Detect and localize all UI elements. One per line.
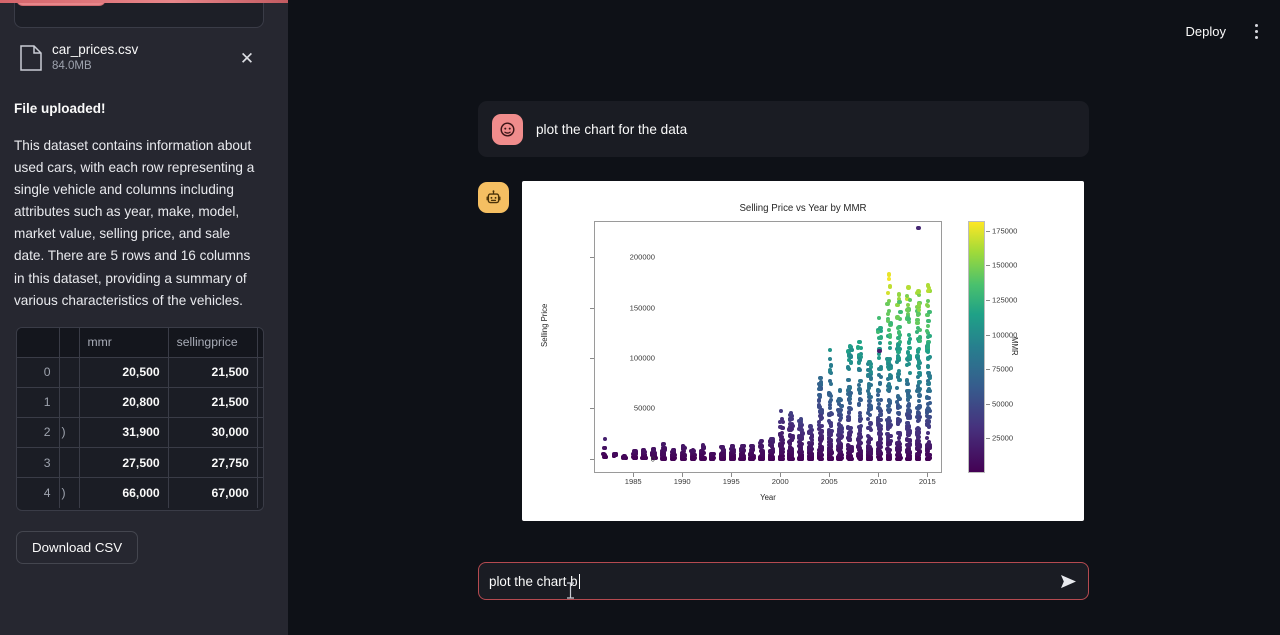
scatter-point <box>917 308 921 312</box>
file-size: 84.0MB <box>52 59 226 74</box>
sidebar: Browse files car_prices.csv 84.0MB ✕ Fil… <box>0 0 288 635</box>
text-caret <box>579 574 580 589</box>
scatter-point <box>887 328 891 332</box>
scatter-point <box>799 417 803 421</box>
scatter-point <box>837 422 841 426</box>
scatter-point <box>828 430 832 434</box>
column-header-saledate[interactable]: saledate <box>257 328 264 357</box>
scatter-point <box>916 387 920 391</box>
scatter-point <box>781 426 785 430</box>
scatter-point <box>888 366 892 370</box>
column-header-mmr[interactable]: mmr <box>79 328 168 357</box>
sidebar-top-accent-rule <box>0 0 288 3</box>
scatter-point <box>750 457 754 461</box>
x-axis-tick-label: 1995 <box>711 477 751 486</box>
assistant-avatar-holder <box>478 181 509 213</box>
scatter-point <box>789 411 793 415</box>
scatter-point <box>742 457 746 461</box>
chart-output-card: Selling Price vs Year by MMR 05000010000… <box>522 181 1084 521</box>
scatter-point <box>819 438 823 442</box>
scatter-point <box>859 346 863 350</box>
scatter-point <box>847 433 851 437</box>
scatter-point <box>847 406 851 410</box>
x-axis-tick-mark <box>829 473 830 477</box>
scatter-point <box>888 284 892 288</box>
colorbar-tick-mark <box>986 265 990 266</box>
scatter-point <box>925 423 929 427</box>
scatter-point <box>927 381 931 385</box>
colorbar-tick-mark <box>986 300 990 301</box>
scatter-point <box>769 437 773 441</box>
scatter-point <box>898 310 902 314</box>
scatter-point <box>886 312 890 316</box>
colorbar-tick-label: 125000 <box>992 295 1017 304</box>
scatter-point <box>885 357 889 361</box>
uploaded-file-chip: car_prices.csv 84.0MB ✕ <box>14 34 264 82</box>
chart-title: Selling Price vs Year by MMR <box>522 203 1084 214</box>
scatter-point <box>887 309 891 313</box>
scatter-point <box>906 404 910 408</box>
scatter-point <box>896 451 900 455</box>
dataset-description: This dataset contains information about … <box>14 135 264 312</box>
scatter-point <box>897 378 901 382</box>
scatter-point <box>896 444 900 448</box>
top-bar: Deploy <box>1180 20 1266 42</box>
scatter-point <box>915 330 919 334</box>
cell-sellingprice: 67,000 <box>168 478 257 508</box>
scatter-point <box>827 457 831 461</box>
cell-sellingprice: 21,500 <box>168 357 257 387</box>
scatter-point <box>926 319 930 323</box>
cell-truncated <box>59 387 79 417</box>
cell-mmr: 66,000 <box>79 478 168 508</box>
scatter-point <box>858 411 862 415</box>
scatter-point <box>928 456 932 460</box>
cell-saledate: Thu Jan 15 2 <box>257 417 264 447</box>
y-axis-tick-mark <box>590 408 594 409</box>
x-axis-tick-mark <box>927 473 928 477</box>
scatter-point <box>868 421 872 425</box>
table-row[interactable]: 2 ) 31,900 30,000 Thu Jan 15 2 <box>17 417 264 447</box>
scatter-point <box>691 456 695 460</box>
y-axis-tick-label: 100000 <box>595 354 655 363</box>
scatter-point <box>857 340 861 344</box>
colorbar-tick-label: 50000 <box>992 399 1013 408</box>
column-header-index[interactable] <box>17 328 59 357</box>
scatter-point <box>799 457 803 461</box>
scatter-point <box>838 388 842 392</box>
deploy-button[interactable]: Deploy <box>1180 21 1232 42</box>
scatter-point <box>896 336 900 340</box>
robot-glyph-icon <box>485 189 502 206</box>
scatter-point <box>837 454 841 458</box>
cell-sellingprice: 27,750 <box>168 448 257 478</box>
colorbar-tick-mark <box>986 404 990 405</box>
x-axis-tick-mark <box>682 473 683 477</box>
y-axis-tick-mark <box>590 358 594 359</box>
y-axis-tick-label: 0 <box>595 454 655 463</box>
x-axis-tick-mark <box>780 473 781 477</box>
scatter-point <box>846 415 850 419</box>
scatter-point <box>907 340 911 344</box>
scatter-point <box>857 368 861 372</box>
scatter-point <box>897 436 901 440</box>
scatter-point <box>917 399 921 403</box>
scatter-point <box>800 435 804 439</box>
cell-saledate: Tue Dec 16 2 <box>257 387 264 417</box>
file-name: car_prices.csv <box>52 42 226 58</box>
table-row[interactable]: 3 27,500 27,750 Thu Jan 29 2 <box>17 448 264 478</box>
scatter-point <box>817 387 821 391</box>
scatter-point <box>877 349 882 354</box>
scatter-point <box>671 448 675 452</box>
scatter-point <box>787 427 791 431</box>
scatter-point <box>898 405 902 409</box>
file-uploaded-heading: File uploaded! <box>14 101 106 116</box>
scatter-point <box>858 391 862 395</box>
cell-mmr: 31,900 <box>79 417 168 447</box>
scatter-point <box>879 418 883 422</box>
scatter-point <box>720 445 724 449</box>
scatter-point <box>847 411 851 415</box>
scatter-point <box>915 439 919 443</box>
scatter-point <box>846 378 850 382</box>
scatter-point <box>888 376 892 380</box>
scatter-point <box>839 408 843 412</box>
scatter-point <box>928 355 932 359</box>
mouse-text-cursor-icon <box>566 582 575 599</box>
scatter-point <box>888 341 892 345</box>
scatter-point <box>817 393 821 397</box>
scatter-point <box>906 425 910 429</box>
scatter-point <box>788 442 792 446</box>
cell-truncated <box>59 448 79 478</box>
scatter-point <box>895 360 899 364</box>
scatter-point <box>836 447 840 451</box>
face-glyph-icon <box>499 121 516 138</box>
colorbar-tick-mark <box>986 438 990 439</box>
colorbar-tick-label: 175000 <box>992 226 1017 235</box>
scatter-point <box>928 401 932 405</box>
scatter-point <box>917 443 921 447</box>
scatter-point <box>722 457 726 461</box>
scatter-point <box>918 339 922 343</box>
scatter-point <box>877 424 881 428</box>
scatter-point <box>680 454 684 458</box>
table-row[interactable]: 1 20,800 21,500 Tue Dec 16 2 <box>17 387 264 417</box>
cell-index: 0 <box>17 357 59 387</box>
colorbar-tick-mark <box>986 231 990 232</box>
y-axis-tick-label: 150000 <box>595 303 655 312</box>
table-head: mmr sellingprice saledate <box>17 328 264 357</box>
scatter-point <box>917 347 921 351</box>
kebab-menu-icon[interactable] <box>1246 20 1266 42</box>
scatter-point <box>837 397 841 401</box>
scatter-point <box>846 365 850 369</box>
scatter-point <box>885 302 889 306</box>
cell-mmr: 27,500 <box>79 448 168 478</box>
document-icon <box>20 45 42 71</box>
scatter-point <box>905 438 909 442</box>
table-header-row: mmr sellingprice saledate <box>17 328 264 357</box>
cell-sellingprice: 30,000 <box>168 417 257 447</box>
send-glyph-icon <box>1060 574 1077 589</box>
scatter-point <box>857 383 861 387</box>
scatter-point <box>898 431 902 435</box>
scatter-point <box>848 397 852 401</box>
scatter-point <box>808 424 812 428</box>
scatter-point <box>896 350 900 354</box>
scatter-point <box>828 400 832 404</box>
cell-index: 1 <box>17 387 59 417</box>
scatter-point <box>916 289 920 293</box>
scatter-point <box>897 292 901 296</box>
scatter-point <box>927 374 931 378</box>
scatter-point <box>887 272 891 276</box>
scatter-point <box>818 457 822 461</box>
scatter-point <box>888 346 892 350</box>
scatter-point <box>779 409 783 413</box>
scatter-point <box>918 373 922 377</box>
scatter-point <box>820 424 824 428</box>
colorbar-tick-mark <box>986 369 990 370</box>
user-message-text: plot the chart for the data <box>536 122 687 137</box>
scatter-point <box>817 398 821 402</box>
scatter-point <box>887 277 891 281</box>
scatter-point <box>896 394 900 398</box>
scatter-point <box>886 442 890 446</box>
scatter-point <box>867 360 871 364</box>
app-root: Browse files car_prices.csv 84.0MB ✕ Fil… <box>0 0 1280 635</box>
table-row[interactable]: 0 20,500 21,500 Tue Dec 16 2 <box>17 357 264 387</box>
scatter-point <box>876 406 880 410</box>
y-axis-tick-mark <box>590 257 594 258</box>
scatter-point <box>869 404 873 408</box>
scatter-point <box>663 448 667 452</box>
x-axis-tick-mark <box>633 473 634 477</box>
scatter-point <box>869 370 873 374</box>
scatter-point <box>926 324 930 328</box>
scatter-point <box>896 457 900 461</box>
scatter-point <box>818 414 822 418</box>
scatter-point <box>927 310 931 314</box>
cell-saledate: Tue Dec 16 2 <box>257 357 264 387</box>
scatter-point <box>869 376 873 380</box>
download-csv-label: Download CSV <box>32 540 122 555</box>
scatter-point <box>878 431 882 435</box>
scatter-point <box>887 420 891 424</box>
scatter-point <box>857 387 861 391</box>
chat-input-value: plot the chart b <box>489 574 578 589</box>
scatter-point <box>915 321 919 325</box>
x-axis-tick-mark <box>878 473 879 477</box>
scatter-point <box>849 354 853 358</box>
scatter-point <box>917 406 921 410</box>
scatter-point <box>829 382 833 386</box>
dataframe-table: mmr sellingprice saledate 0 20,500 21,50… <box>17 328 264 508</box>
scatter-point <box>858 379 862 383</box>
column-header-sellingprice[interactable]: sellingprice <box>168 328 257 357</box>
scatter-point <box>691 448 695 452</box>
scatter-point <box>818 450 822 454</box>
scatter-point <box>878 449 882 453</box>
x-axis-label: Year <box>594 493 942 502</box>
scatter-point <box>857 425 861 429</box>
scatter-point <box>857 403 861 407</box>
scatter-point <box>897 420 901 424</box>
scatter-point <box>828 406 832 410</box>
scatter-point <box>926 431 930 435</box>
close-icon[interactable]: ✕ <box>236 47 258 69</box>
scatter-point <box>603 437 607 441</box>
scatter-point <box>906 285 910 289</box>
scatter-point <box>877 356 881 360</box>
scatter-point <box>789 457 793 461</box>
y-axis-label: Selling Price <box>540 304 549 347</box>
table-body: 0 20,500 21,500 Tue Dec 16 2 1 20,800 21… <box>17 357 264 508</box>
scatter-point <box>828 357 832 361</box>
scatter-point <box>661 457 665 461</box>
scatter-point <box>908 371 912 375</box>
colorbar <box>968 221 985 473</box>
scatter-point <box>632 449 636 453</box>
scatter-point <box>895 386 899 390</box>
scatter-point <box>759 439 763 443</box>
scatter-point <box>810 457 814 461</box>
scatter-point <box>927 396 931 400</box>
scatter-point <box>869 450 873 454</box>
y-axis-tick-mark <box>590 308 594 309</box>
cell-truncated <box>59 357 79 387</box>
y-axis-tick-mark <box>590 459 594 460</box>
colorbar-tick-label: 25000 <box>992 434 1013 443</box>
user-face-avatar-icon <box>492 114 523 145</box>
scatter-point <box>918 415 922 419</box>
scatter-point <box>916 313 920 317</box>
chat-input-field[interactable]: plot the chart b <box>479 574 1048 589</box>
colorbar-label: MMR <box>1010 337 1019 356</box>
scatter-point <box>917 359 921 363</box>
cell-mmr: 20,800 <box>79 387 168 417</box>
scatter-point <box>907 414 911 418</box>
scatter-point <box>886 425 890 429</box>
scatter-point <box>926 335 930 339</box>
colorbar-tick-label: 75000 <box>992 365 1013 374</box>
x-axis-tick-label: 1985 <box>613 477 653 486</box>
cell-index: 2 <box>17 417 59 447</box>
scatter-point <box>760 451 764 455</box>
scatter-point <box>917 302 921 306</box>
file-meta: car_prices.csv 84.0MB <box>52 42 226 74</box>
scatter-point <box>858 358 862 362</box>
chat-message-assistant: Selling Price vs Year by MMR 05000010000… <box>478 181 1084 521</box>
main-content: Deploy plot the chart for the data <box>288 0 1280 635</box>
scatter-point <box>849 348 853 352</box>
scatter-point <box>828 348 832 352</box>
scatter-point <box>895 315 899 319</box>
scatter-point <box>908 298 912 302</box>
scatter-point <box>887 448 891 452</box>
scatter-point <box>876 330 880 334</box>
x-axis-tick-label: 1990 <box>662 477 702 486</box>
scatter-point <box>858 432 862 436</box>
cell-index: 4 <box>17 478 59 508</box>
scatter-point <box>907 429 911 433</box>
scatter-point <box>779 456 783 460</box>
chat-message-user: plot the chart for the data <box>478 101 1089 157</box>
send-arrow-icon[interactable] <box>1048 574 1088 589</box>
scatter-point <box>917 393 921 397</box>
colorbar-tick-mark <box>986 335 990 336</box>
scatter-point <box>642 448 646 452</box>
scatter-point <box>907 454 911 458</box>
robot-avatar-icon <box>478 182 509 213</box>
x-axis-tick-label: 2005 <box>809 477 849 486</box>
x-axis-tick-label: 2015 <box>907 477 947 486</box>
scatter-point <box>876 393 880 397</box>
scatter-point <box>710 452 714 456</box>
scatter-point <box>896 372 900 376</box>
scatter-point <box>671 457 675 461</box>
scatter-point <box>661 451 665 455</box>
scatter-point <box>926 349 930 353</box>
cell-saledate: Thu Dec 18 2 <box>257 478 264 508</box>
scatter-point <box>905 363 909 367</box>
scatter-point <box>829 363 833 367</box>
scatter-point <box>750 444 754 448</box>
scatter-point <box>877 336 881 340</box>
scatter-point <box>897 300 901 304</box>
x-axis-tick-label: 2010 <box>858 477 898 486</box>
scatter-point <box>866 411 870 415</box>
y-axis-tick-label: 50000 <box>595 404 655 413</box>
scatter-point <box>602 446 606 450</box>
scatter-point <box>888 399 892 403</box>
scatter-point <box>790 435 794 439</box>
scatter-point <box>878 341 882 345</box>
scatter-point <box>867 457 871 461</box>
column-header-truncated[interactable] <box>59 328 79 357</box>
cell-truncated: ) <box>59 417 79 447</box>
scatter-point <box>829 411 833 415</box>
download-csv-button[interactable]: Download CSV <box>16 531 138 564</box>
scatter-point <box>866 426 870 430</box>
x-axis-tick-label: 2000 <box>760 477 800 486</box>
y-axis-tick-label: 200000 <box>595 253 655 262</box>
scatter-point <box>886 435 890 439</box>
scatter-point <box>848 391 852 395</box>
cell-saledate: Thu Jan 29 2 <box>257 448 264 478</box>
scatter-point <box>926 304 930 308</box>
scatter-point <box>887 382 891 386</box>
dataframe-preview[interactable]: mmr sellingprice saledate 0 20,500 21,50… <box>16 327 264 511</box>
scatter-point <box>778 420 782 424</box>
scatter-point <box>905 382 909 386</box>
scatter-point <box>878 381 882 385</box>
scatter-point <box>877 402 881 406</box>
colorbar-tick-label: 150000 <box>992 261 1017 270</box>
cell-sellingprice: 21,500 <box>168 387 257 417</box>
scatter-point <box>925 443 929 447</box>
scatter-point <box>877 316 881 320</box>
scatter-point <box>848 401 852 405</box>
table-row[interactable]: 4 ) 66,000 67,000 Thu Dec 18 2 <box>17 478 264 508</box>
scatter-point <box>886 291 890 295</box>
scatter-point <box>916 226 921 231</box>
scatter-point <box>897 330 901 334</box>
x-axis-tick-mark <box>731 473 732 477</box>
scatter-point <box>779 450 783 454</box>
